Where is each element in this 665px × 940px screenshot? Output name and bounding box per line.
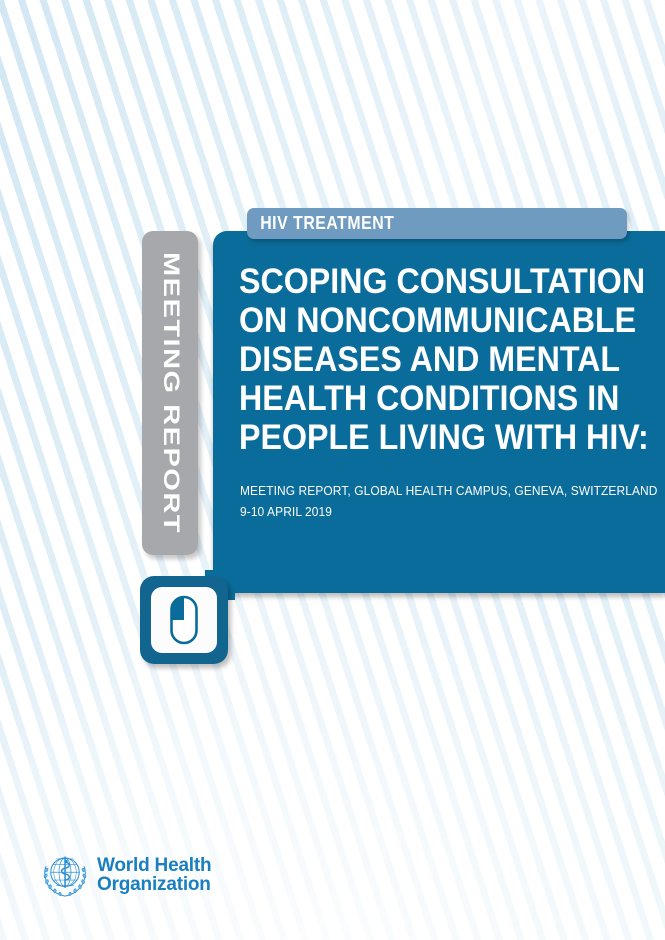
series-ribbon: HIV TREATMENT — [247, 208, 627, 239]
report-cover-page: MEETING REPORT HIV TREATMENT SCOPING CON… — [0, 0, 665, 940]
title-line: ON NONCOMMUNICABLE — [239, 301, 607, 340]
title-line: HEALTH CONDITIONS IN — [239, 379, 607, 418]
capsule-badge — [140, 576, 228, 664]
side-tab-label: MEETING REPORT — [157, 252, 183, 534]
page-subtitle: MEETING REPORT, GLOBAL HEALTH CAMPUS, GE… — [240, 480, 640, 522]
who-logo: World Health Organization — [42, 852, 211, 898]
title-line: DISEASES AND MENTAL — [239, 340, 607, 379]
who-wordmark-line-2: Organization — [97, 875, 211, 894]
capsule-badge-tile — [151, 587, 217, 653]
title-line: PEOPLE LIVING WITH HIV: — [239, 418, 607, 457]
title-line: SCOPING CONSULTATION — [239, 262, 607, 301]
side-tab-inner: MEETING REPORT — [142, 231, 198, 555]
subtitle-line: MEETING REPORT, GLOBAL HEALTH CAMPUS, GE… — [240, 480, 608, 501]
subtitle-line: 9-10 APRIL 2019 — [240, 501, 608, 522]
series-ribbon-label: HIV TREATMENT — [247, 213, 394, 234]
who-wordmark-line-1: World Health — [97, 856, 211, 875]
who-emblem-icon — [42, 852, 88, 898]
meeting-report-side-tab: MEETING REPORT — [142, 231, 198, 555]
who-wordmark: World Health Organization — [97, 856, 211, 895]
capsule-pill-icon — [167, 594, 201, 646]
page-title: SCOPING CONSULTATION ON NONCOMMUNICABLE … — [239, 262, 639, 457]
